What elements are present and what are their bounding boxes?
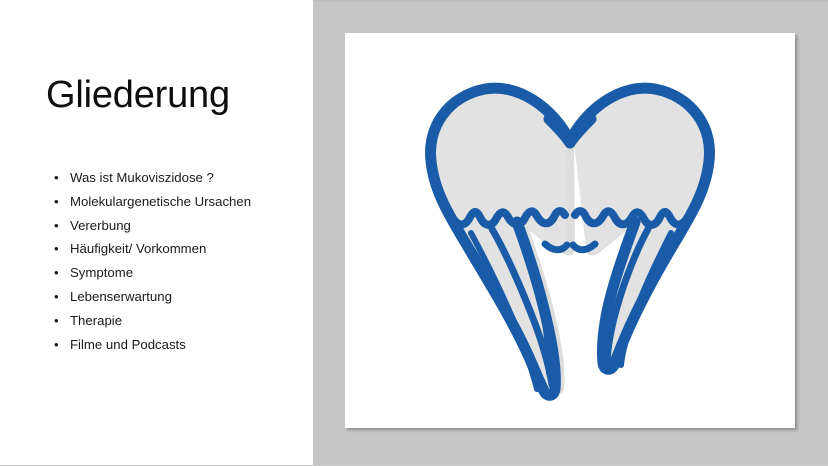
presentation-slide: Gliederung • Was ist Mukoviszidose ? • M… (0, 0, 828, 466)
bullet-icon: • (54, 285, 59, 309)
bullet-icon: • (54, 333, 59, 357)
outline-bullet-list: • Was ist Mukoviszidose ? • Molekulargen… (50, 166, 300, 356)
bullet-icon: • (54, 237, 59, 261)
bullet-icon: • (54, 261, 59, 285)
outline-item-label: Molekulargenetische Ursachen (70, 190, 300, 214)
list-item: • Molekulargenetische Ursachen (50, 190, 300, 214)
slide-image-pane (313, 0, 828, 465)
pane-top-edge-divider (313, 0, 828, 2)
outline-item-label: Was ist Mukoviszidose ? (70, 166, 300, 190)
list-item: • Was ist Mukoviszidose ? (50, 166, 300, 190)
list-item: • Vererbung (50, 214, 300, 238)
bullet-icon: • (54, 309, 59, 333)
bullet-icon: • (54, 190, 59, 214)
page-title: Gliederung (46, 73, 230, 117)
outline-item-label: Häufigkeit/ Vorkommen (70, 237, 300, 261)
list-item: • Symptome (50, 261, 300, 285)
list-item: • Filme und Podcasts (50, 333, 300, 357)
outline-item-label: Symptome (70, 261, 300, 285)
outline-item-label: Lebenserwartung (70, 285, 300, 309)
bullet-icon: • (54, 166, 59, 190)
outline-item-label: Filme und Podcasts (70, 333, 300, 357)
image-card (345, 33, 795, 428)
angel-wings-heart-icon (345, 33, 795, 428)
list-item: • Häufigkeit/ Vorkommen (50, 237, 300, 261)
list-item: • Therapie (50, 309, 300, 333)
bullet-icon: • (54, 214, 59, 238)
slide-text-pane: Gliederung • Was ist Mukoviszidose ? • M… (0, 0, 313, 466)
outline-item-label: Therapie (70, 309, 300, 333)
outline-item-label: Vererbung (70, 214, 300, 238)
list-item: • Lebenserwartung (50, 285, 300, 309)
